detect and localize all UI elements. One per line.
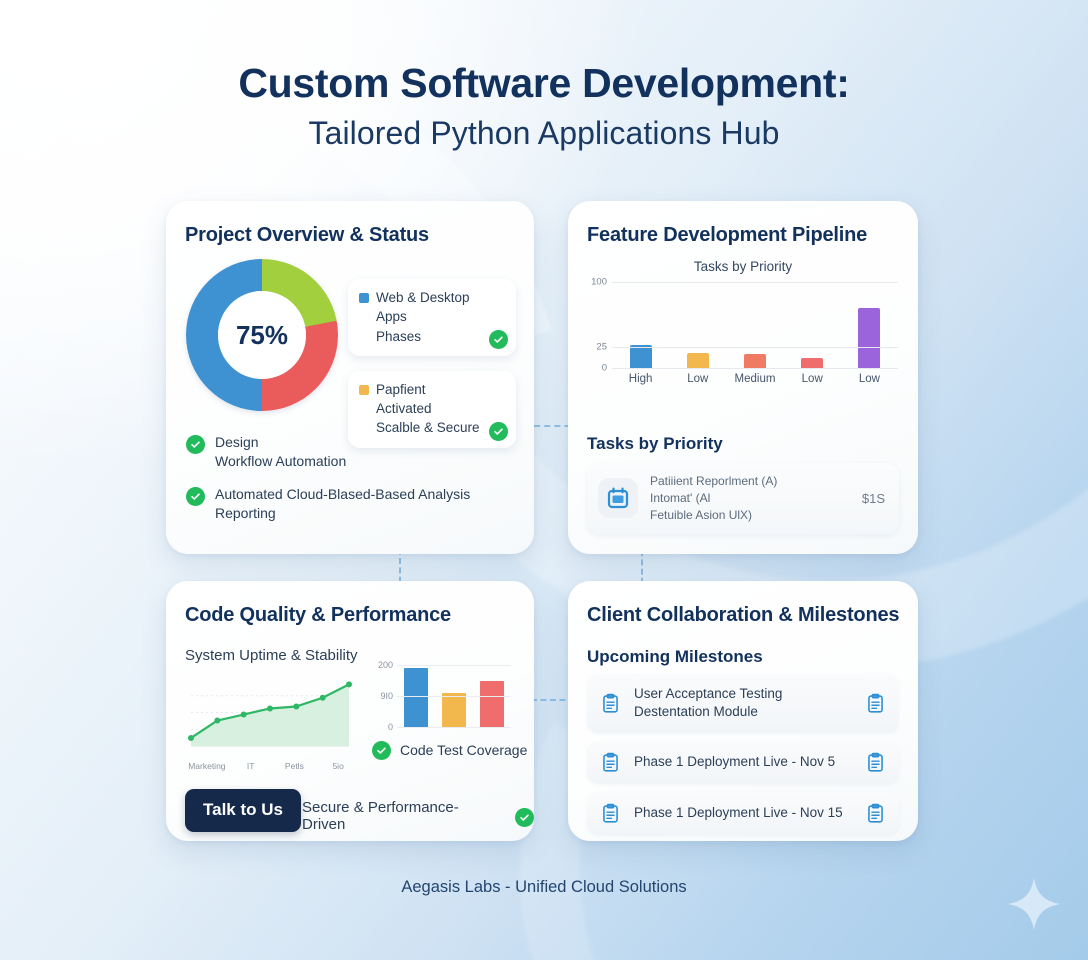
chart-x-tick: Low: [669, 373, 726, 385]
page-title: Custom Software Development:: [0, 60, 1088, 107]
project-completion-donut: 75%: [186, 259, 338, 411]
chart-gridline: [397, 696, 511, 697]
clipboard-icon: [600, 693, 621, 714]
clipboard-icon[interactable]: [865, 803, 886, 824]
check-circle-icon: [489, 330, 508, 349]
task-line-1: Patiiient Reporlment (A): [650, 473, 850, 490]
chart-plot-area: 100250: [612, 282, 898, 368]
project-checklist: Design Workflow Automation Automated Clo…: [186, 433, 516, 536]
poster-canvas: Custom Software Development: Tailored Py…: [0, 0, 1088, 960]
chart-data-point: [188, 735, 194, 741]
card4-section-title: Upcoming Milestones: [587, 647, 763, 667]
milestone-list-item[interactable]: Phase 1 Deployment Live - Nov 15: [587, 792, 899, 835]
list-item: Design Workflow Automation: [186, 433, 516, 472]
chart-bar: [801, 358, 823, 368]
chart-gridline: [612, 282, 898, 283]
task-description: Patiiient Reporlment (A) Intomat' (Al Fe…: [650, 473, 850, 523]
checklist-label: Design Workflow Automation: [215, 433, 346, 472]
donut-ring: 75%: [186, 259, 338, 411]
milestone-line-1: Phase 1 Deployment Live - Nov 5: [634, 754, 835, 769]
chart-area-fill: [191, 684, 349, 746]
chart-bar-column: [726, 282, 783, 368]
chart-y-tick: 25: [596, 341, 607, 352]
card-project-overview: Project Overview & Status 75% Web & Desk…: [166, 201, 534, 554]
card-feature-pipeline: Feature Development Pipeline Tasks by Pr…: [568, 201, 918, 554]
chart-title: Tasks by Priority: [582, 259, 904, 274]
check-circle-icon: [372, 741, 391, 760]
milestones-list: User Acceptance TestingDestentation Modu…: [587, 674, 899, 843]
chart-bars: [612, 282, 898, 368]
chart-y-tick: 100: [591, 277, 607, 288]
chart-bar-column: [841, 282, 898, 368]
chart-y-tick: 200: [378, 660, 393, 670]
card2-section-title: Tasks by Priority: [587, 434, 723, 454]
milestone-line-1: User Acceptance Testing: [634, 686, 782, 701]
chart-x-tick: Marketing: [185, 761, 229, 771]
chart-x-tick: Low: [784, 373, 841, 385]
tasks-by-priority-chart: Tasks by Priority 100250 HighLowMediumLo…: [582, 259, 904, 391]
poster-header: Custom Software Development: Tailored Py…: [0, 60, 1088, 152]
footer-text: Aegasis Labs - Unified Cloud Solutions: [0, 878, 1088, 897]
sparkle-icon: [1004, 874, 1064, 934]
legend-label: Papfient Activated Scalble & Secure: [376, 380, 482, 438]
task-amount: $1S: [862, 491, 885, 506]
code-coverage-label: Code Test Coverage: [400, 742, 527, 758]
task-line-2: Intomat' (Al: [650, 490, 850, 507]
uptime-x-labels: MarketingITPetls5io: [185, 761, 360, 771]
calendar-icon: [598, 478, 638, 518]
code-coverage-status: Code Test Coverage: [372, 739, 527, 760]
check-circle-icon: [186, 487, 205, 506]
chart-x-tick: High: [612, 373, 669, 385]
clipboard-icon[interactable]: [865, 752, 886, 773]
card3-subtitle: System Uptime & Stability: [185, 647, 358, 664]
milestone-label: Phase 1 Deployment Live - Nov 15: [634, 804, 852, 822]
chart-x-labels: HighLowMediumLowLow: [612, 373, 898, 385]
card-client-collaboration: Client Collaboration & Milestones Upcomi…: [568, 581, 918, 841]
legend-label: Web & Desktop Apps Phases: [376, 288, 482, 346]
milestone-line-1: Phase 1 Deployment Live - Nov 15: [634, 805, 843, 820]
chart-data-point: [293, 703, 299, 709]
chart-bar: [442, 693, 466, 727]
legend-swatch: [359, 293, 369, 303]
check-circle-icon: [515, 808, 534, 827]
talk-to-us-button[interactable]: Talk to Us: [185, 789, 301, 832]
chart-bar: [858, 308, 880, 368]
chart-bar-column: [784, 282, 841, 368]
chart-bar-column: [669, 282, 726, 368]
secure-performance-tagline: Secure & Performance-Driven: [302, 799, 534, 833]
card1-title: Project Overview & Status: [185, 224, 429, 247]
chart-x-tick: IT: [229, 761, 273, 771]
milestone-list-item[interactable]: Phase 1 Deployment Live - Nov 5: [587, 741, 899, 784]
list-item: Automated Cloud-Blased-Based Analysis Re…: [186, 485, 516, 524]
chart-data-point: [214, 718, 220, 724]
chart-bar: [480, 681, 504, 728]
card2-title: Feature Development Pipeline: [587, 224, 867, 247]
chart-bar: [744, 354, 766, 368]
mini-chart-plot-area: 2009I00: [397, 665, 511, 727]
milestone-label: Phase 1 Deployment Live - Nov 5: [634, 753, 852, 771]
chart-bar-column: [612, 282, 669, 368]
chart-gridline: [612, 347, 898, 348]
task-line-3: Fetuible Asion UlX): [650, 507, 850, 524]
card3-title: Code Quality & Performance: [185, 604, 451, 627]
card-code-quality: Code Quality & Performance System Uptime…: [166, 581, 534, 841]
task-list-item[interactable]: Patiiient Reporlment (A) Intomat' (Al Fe…: [587, 463, 899, 534]
chart-y-tick: 0: [388, 722, 393, 732]
chart-x-tick: Medium: [726, 373, 783, 385]
milestone-line-2: Destentation Module: [634, 704, 758, 719]
card4-title: Client Collaboration & Milestones: [587, 604, 899, 627]
system-uptime-chart: [185, 673, 355, 758]
checklist-label: Automated Cloud-Blased-Based Analysis Re…: [215, 485, 470, 524]
chart-x-tick: Petls: [273, 761, 317, 771]
chart-data-point: [320, 695, 326, 701]
code-coverage-bar-chart: 2009I00: [371, 665, 511, 741]
clipboard-icon: [600, 752, 621, 773]
chart-gridline: [612, 368, 898, 369]
chart-y-tick: 9I0: [380, 691, 393, 701]
chart-gridline: [397, 727, 511, 728]
chart-x-tick: Low: [841, 373, 898, 385]
chart-data-point: [267, 705, 273, 711]
chart-data-point: [346, 681, 352, 687]
clipboard-icon[interactable]: [865, 693, 886, 714]
tagline-label: Secure & Performance-Driven: [302, 799, 501, 833]
milestone-list-item[interactable]: User Acceptance TestingDestentation Modu…: [587, 674, 899, 733]
uptime-area-svg: [185, 673, 355, 758]
chart-bar: [404, 668, 428, 727]
legend-item[interactable]: Web & Desktop Apps Phases: [348, 279, 516, 356]
chart-y-tick: 0: [602, 363, 607, 374]
donut-center-label: 75%: [218, 291, 306, 379]
chart-bar: [687, 353, 709, 368]
check-circle-icon: [186, 435, 205, 454]
milestone-label: User Acceptance TestingDestentation Modu…: [634, 685, 852, 722]
legend-swatch: [359, 385, 369, 395]
chart-x-tick: 5io: [316, 761, 360, 771]
chart-gridline: [397, 665, 511, 666]
chart-bar: [630, 345, 652, 368]
clipboard-icon: [600, 803, 621, 824]
page-subtitle: Tailored Python Applications Hub: [0, 115, 1088, 152]
chart-data-point: [241, 712, 247, 718]
